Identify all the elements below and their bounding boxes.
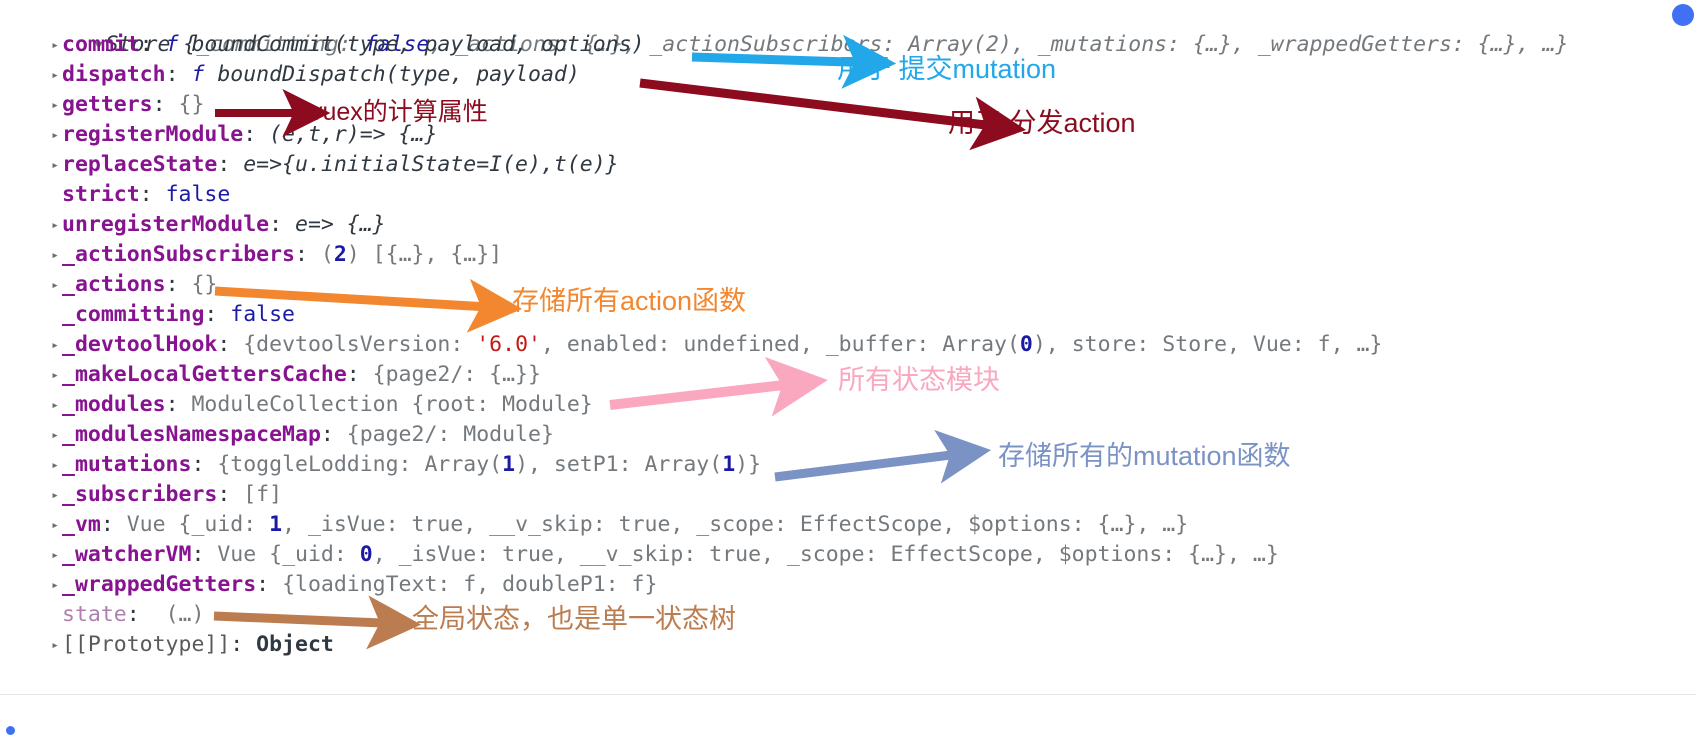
- console-property-row[interactable]: ▸_vm: Vue {_uid: 1, _isVue: true, __v_sk…: [0, 510, 1696, 540]
- property-key: _wrappedGetters: [62, 572, 256, 597]
- annotation-label-commit: 用于 提交mutation: [837, 56, 1056, 83]
- console-property-row[interactable]: ▸getters: {}: [0, 90, 1696, 120]
- chevron-right-icon[interactable]: ▸: [48, 511, 62, 541]
- console-property-row[interactable]: _committing: false: [0, 300, 1696, 330]
- property-value: [f]: [243, 482, 282, 507]
- console-property-row[interactable]: ▸_subscribers: [f]: [0, 480, 1696, 510]
- chevron-right-icon[interactable]: ▸: [48, 211, 62, 241]
- toggle-spacer: [48, 181, 62, 211]
- chevron-right-icon[interactable]: ▸: [48, 331, 62, 361]
- toggle-spacer: [48, 601, 62, 631]
- property-key: strict: [62, 182, 140, 207]
- property-key: _mutations: [62, 452, 191, 477]
- chevron-right-icon[interactable]: ▸: [48, 271, 62, 301]
- property-separator: :: [269, 212, 295, 237]
- property-key: state: [62, 602, 127, 627]
- property-separator: :: [204, 302, 230, 327]
- chevron-right-icon[interactable]: ▸: [48, 241, 62, 271]
- property-separator: :: [166, 62, 192, 87]
- annotation-label-state: 全局状态，也是单一状态树: [412, 606, 736, 633]
- property-key: _actionSubscribers: [62, 242, 295, 267]
- property-key: getters: [62, 92, 153, 117]
- chevron-right-icon[interactable]: ▸: [48, 541, 62, 571]
- console-property-rows: ▸commit: f boundCommit(type, payload, op…: [0, 30, 1696, 660]
- console-property-row[interactable]: ▸_watcherVM: Vue {_uid: 0, _isVue: true,…: [0, 540, 1696, 570]
- chevron-right-icon[interactable]: ▸: [48, 31, 62, 61]
- property-key: _committing: [62, 302, 204, 327]
- console-divider: [0, 694, 1696, 695]
- console-property-row[interactable]: ▸_mutations: {toggleLodding: Array(1), s…: [0, 450, 1696, 480]
- chevron-right-icon[interactable]: ▸: [48, 361, 62, 391]
- console-property-row[interactable]: strict: false: [0, 180, 1696, 210]
- console-root-line[interactable]: ▼Store {_committing: false, _actions: {……: [0, 0, 1696, 30]
- chevron-right-icon[interactable]: ▸: [48, 631, 62, 661]
- property-separator: :: [101, 512, 127, 537]
- property-separator: :: [191, 452, 217, 477]
- console-property-row[interactable]: ▸_modulesNamespaceMap: {page2/: Module}: [0, 420, 1696, 450]
- chevron-right-icon[interactable]: ▸: [48, 391, 62, 421]
- chevron-right-icon[interactable]: ▸: [48, 151, 62, 181]
- property-key: unregisterModule: [62, 212, 269, 237]
- property-key: _devtoolHook: [62, 332, 217, 357]
- property-value: {toggleLodding: Array(1), setP1: Array(1…: [217, 452, 761, 477]
- property-value: e=>{u.initialState=I(e),t(e)}: [243, 152, 618, 177]
- property-separator: :: [140, 32, 166, 57]
- property-separator: :: [153, 92, 179, 117]
- next-entry-dot-icon: [6, 726, 15, 735]
- property-key: commit: [62, 32, 140, 57]
- console-property-row[interactable]: ▸[[Prototype]]: Object: [0, 630, 1696, 660]
- property-value: (2) [{…}, {…}]: [321, 242, 502, 267]
- toggle-spacer: [48, 301, 62, 331]
- property-value: boundDispatch(type, payload): [217, 62, 579, 87]
- property-key: _actions: [62, 272, 166, 297]
- chevron-right-icon[interactable]: ▸: [48, 481, 62, 511]
- property-separator: :: [347, 362, 373, 387]
- chevron-right-icon[interactable]: ▸: [48, 61, 62, 91]
- property-key: [[Prototype]]: [62, 632, 230, 657]
- property-value: Vue {_uid: 0, _isVue: true, __v_skip: tr…: [217, 542, 1278, 567]
- property-separator: :: [321, 422, 347, 447]
- property-key: replaceState: [62, 152, 217, 177]
- property-value: (…): [166, 602, 205, 627]
- property-key: registerModule: [62, 122, 243, 147]
- property-value: Object: [256, 632, 334, 657]
- property-separator: :: [243, 122, 269, 147]
- property-value: {page2/: {…}}: [373, 362, 541, 387]
- property-separator: :: [166, 272, 192, 297]
- property-value: {page2/: Module}: [347, 422, 554, 447]
- chevron-right-icon[interactable]: ▸: [48, 451, 62, 481]
- function-marker-icon: f: [191, 62, 217, 87]
- console-property-row[interactable]: ▸_actions: {}: [0, 270, 1696, 300]
- console-object-tree: ▼Store {_committing: false, _actions: {……: [0, 0, 1696, 660]
- console-property-row[interactable]: ▸unregisterModule: e=> {…}: [0, 210, 1696, 240]
- property-key: dispatch: [62, 62, 166, 87]
- property-key: _modules: [62, 392, 166, 417]
- console-property-row[interactable]: ▸_devtoolHook: {devtoolsVersion: '6.0', …: [0, 330, 1696, 360]
- property-value: {}: [191, 272, 217, 297]
- property-key: _makeLocalGettersCache: [62, 362, 347, 387]
- property-separator: :: [127, 602, 166, 627]
- console-property-row[interactable]: state: (…): [0, 600, 1696, 630]
- console-property-row[interactable]: ▸_wrappedGetters: {loadingText: f, doubl…: [0, 570, 1696, 600]
- property-key: _watcherVM: [62, 542, 191, 567]
- annotation-label-dispatch: 用于 分发action: [948, 110, 1136, 137]
- annotation-label-actions: 存储所有action函数: [512, 288, 746, 315]
- property-value: ModuleCollection {root: Module}: [191, 392, 592, 417]
- property-value: Vue {_uid: 1, _isVue: true, __v_skip: tr…: [127, 512, 1188, 537]
- property-key: _subscribers: [62, 482, 217, 507]
- console-property-row[interactable]: ▸replaceState: e=>{u.initialState=I(e),t…: [0, 150, 1696, 180]
- devtools-console-screenshot: ▼Store {_committing: false, _actions: {……: [0, 0, 1696, 740]
- annotation-label-modules: 所有状态模块: [838, 367, 1000, 394]
- console-property-row[interactable]: ▸_actionSubscribers: (2) [{…}, {…}]: [0, 240, 1696, 270]
- property-separator: :: [217, 332, 243, 357]
- function-marker-icon: f: [166, 32, 192, 57]
- property-value: e=> {…}: [295, 212, 386, 237]
- property-separator: :: [140, 182, 166, 207]
- annotation-label-getters: vuex的计算属性: [310, 100, 488, 125]
- property-key: _vm: [62, 512, 101, 537]
- property-value: {loadingText: f, doubleP1: f}: [282, 572, 657, 597]
- info-badge-icon[interactable]: [1672, 4, 1694, 26]
- property-separator: :: [217, 482, 243, 507]
- property-value: {}: [179, 92, 205, 117]
- property-value: false: [230, 302, 295, 327]
- property-value: {devtoolsVersion: '6.0', enabled: undefi…: [243, 332, 1382, 357]
- property-separator: :: [217, 152, 243, 177]
- property-separator: :: [191, 542, 217, 567]
- property-separator: :: [295, 242, 321, 267]
- property-value: boundCommit(type, payload, options): [191, 32, 644, 57]
- chevron-right-icon[interactable]: ▸: [48, 421, 62, 451]
- chevron-right-icon[interactable]: ▸: [48, 91, 62, 121]
- property-separator: :: [230, 632, 256, 657]
- chevron-right-icon[interactable]: ▸: [48, 121, 62, 151]
- console-property-row[interactable]: ▸registerModule: (e,t,r)=> {…}: [0, 120, 1696, 150]
- property-value: false: [166, 182, 231, 207]
- annotation-label-mutations: 存储所有的mutation函数: [998, 443, 1291, 470]
- property-key: _modulesNamespaceMap: [62, 422, 321, 447]
- property-separator: :: [256, 572, 282, 597]
- property-separator: :: [166, 392, 192, 417]
- chevron-right-icon[interactable]: ▸: [48, 571, 62, 601]
